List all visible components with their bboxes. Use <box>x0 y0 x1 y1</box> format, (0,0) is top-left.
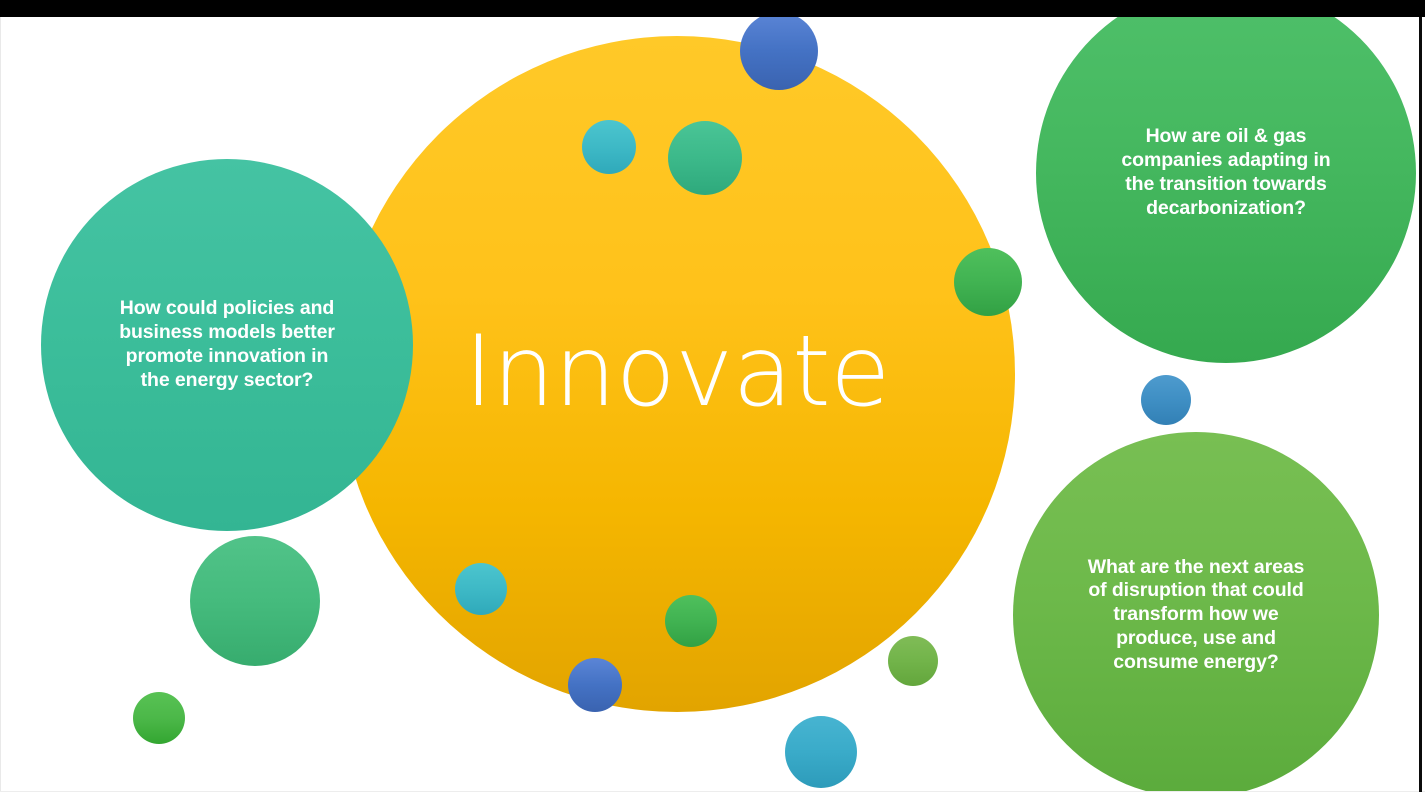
question-bubble-policies[interactable]: How could policies and business models b… <box>41 159 413 531</box>
accent-dot <box>455 563 507 615</box>
frame-edge-right <box>1419 17 1422 792</box>
frame-edge-left <box>0 17 1 792</box>
accent-dot <box>740 12 818 90</box>
accent-dot <box>133 692 185 744</box>
accent-dot <box>582 120 636 174</box>
question-bubble-disruption-label: What are the next areas of disruption th… <box>1074 556 1319 675</box>
accent-dot <box>954 248 1022 316</box>
accent-dot <box>1141 375 1191 425</box>
question-bubble-disruption[interactable]: What are the next areas of disruption th… <box>1013 432 1379 792</box>
frame-edge-top <box>0 0 1425 17</box>
accent-dot <box>668 121 742 195</box>
accent-dot <box>888 636 938 686</box>
slide-canvas: Innovate How could policies and business… <box>0 0 1425 792</box>
question-bubble-policies-label: How could policies and business models b… <box>105 297 349 392</box>
accent-dot <box>785 716 857 788</box>
question-bubble-oil-and-gas-label: How are oil & gas companies adapting in … <box>1107 125 1344 220</box>
accent-dot <box>568 658 622 712</box>
accent-dot <box>190 536 320 666</box>
question-bubble-oil-and-gas[interactable]: How are oil & gas companies adapting in … <box>1036 0 1416 363</box>
hero-bubble-label: Innovate <box>464 323 890 421</box>
accent-dot <box>665 595 717 647</box>
